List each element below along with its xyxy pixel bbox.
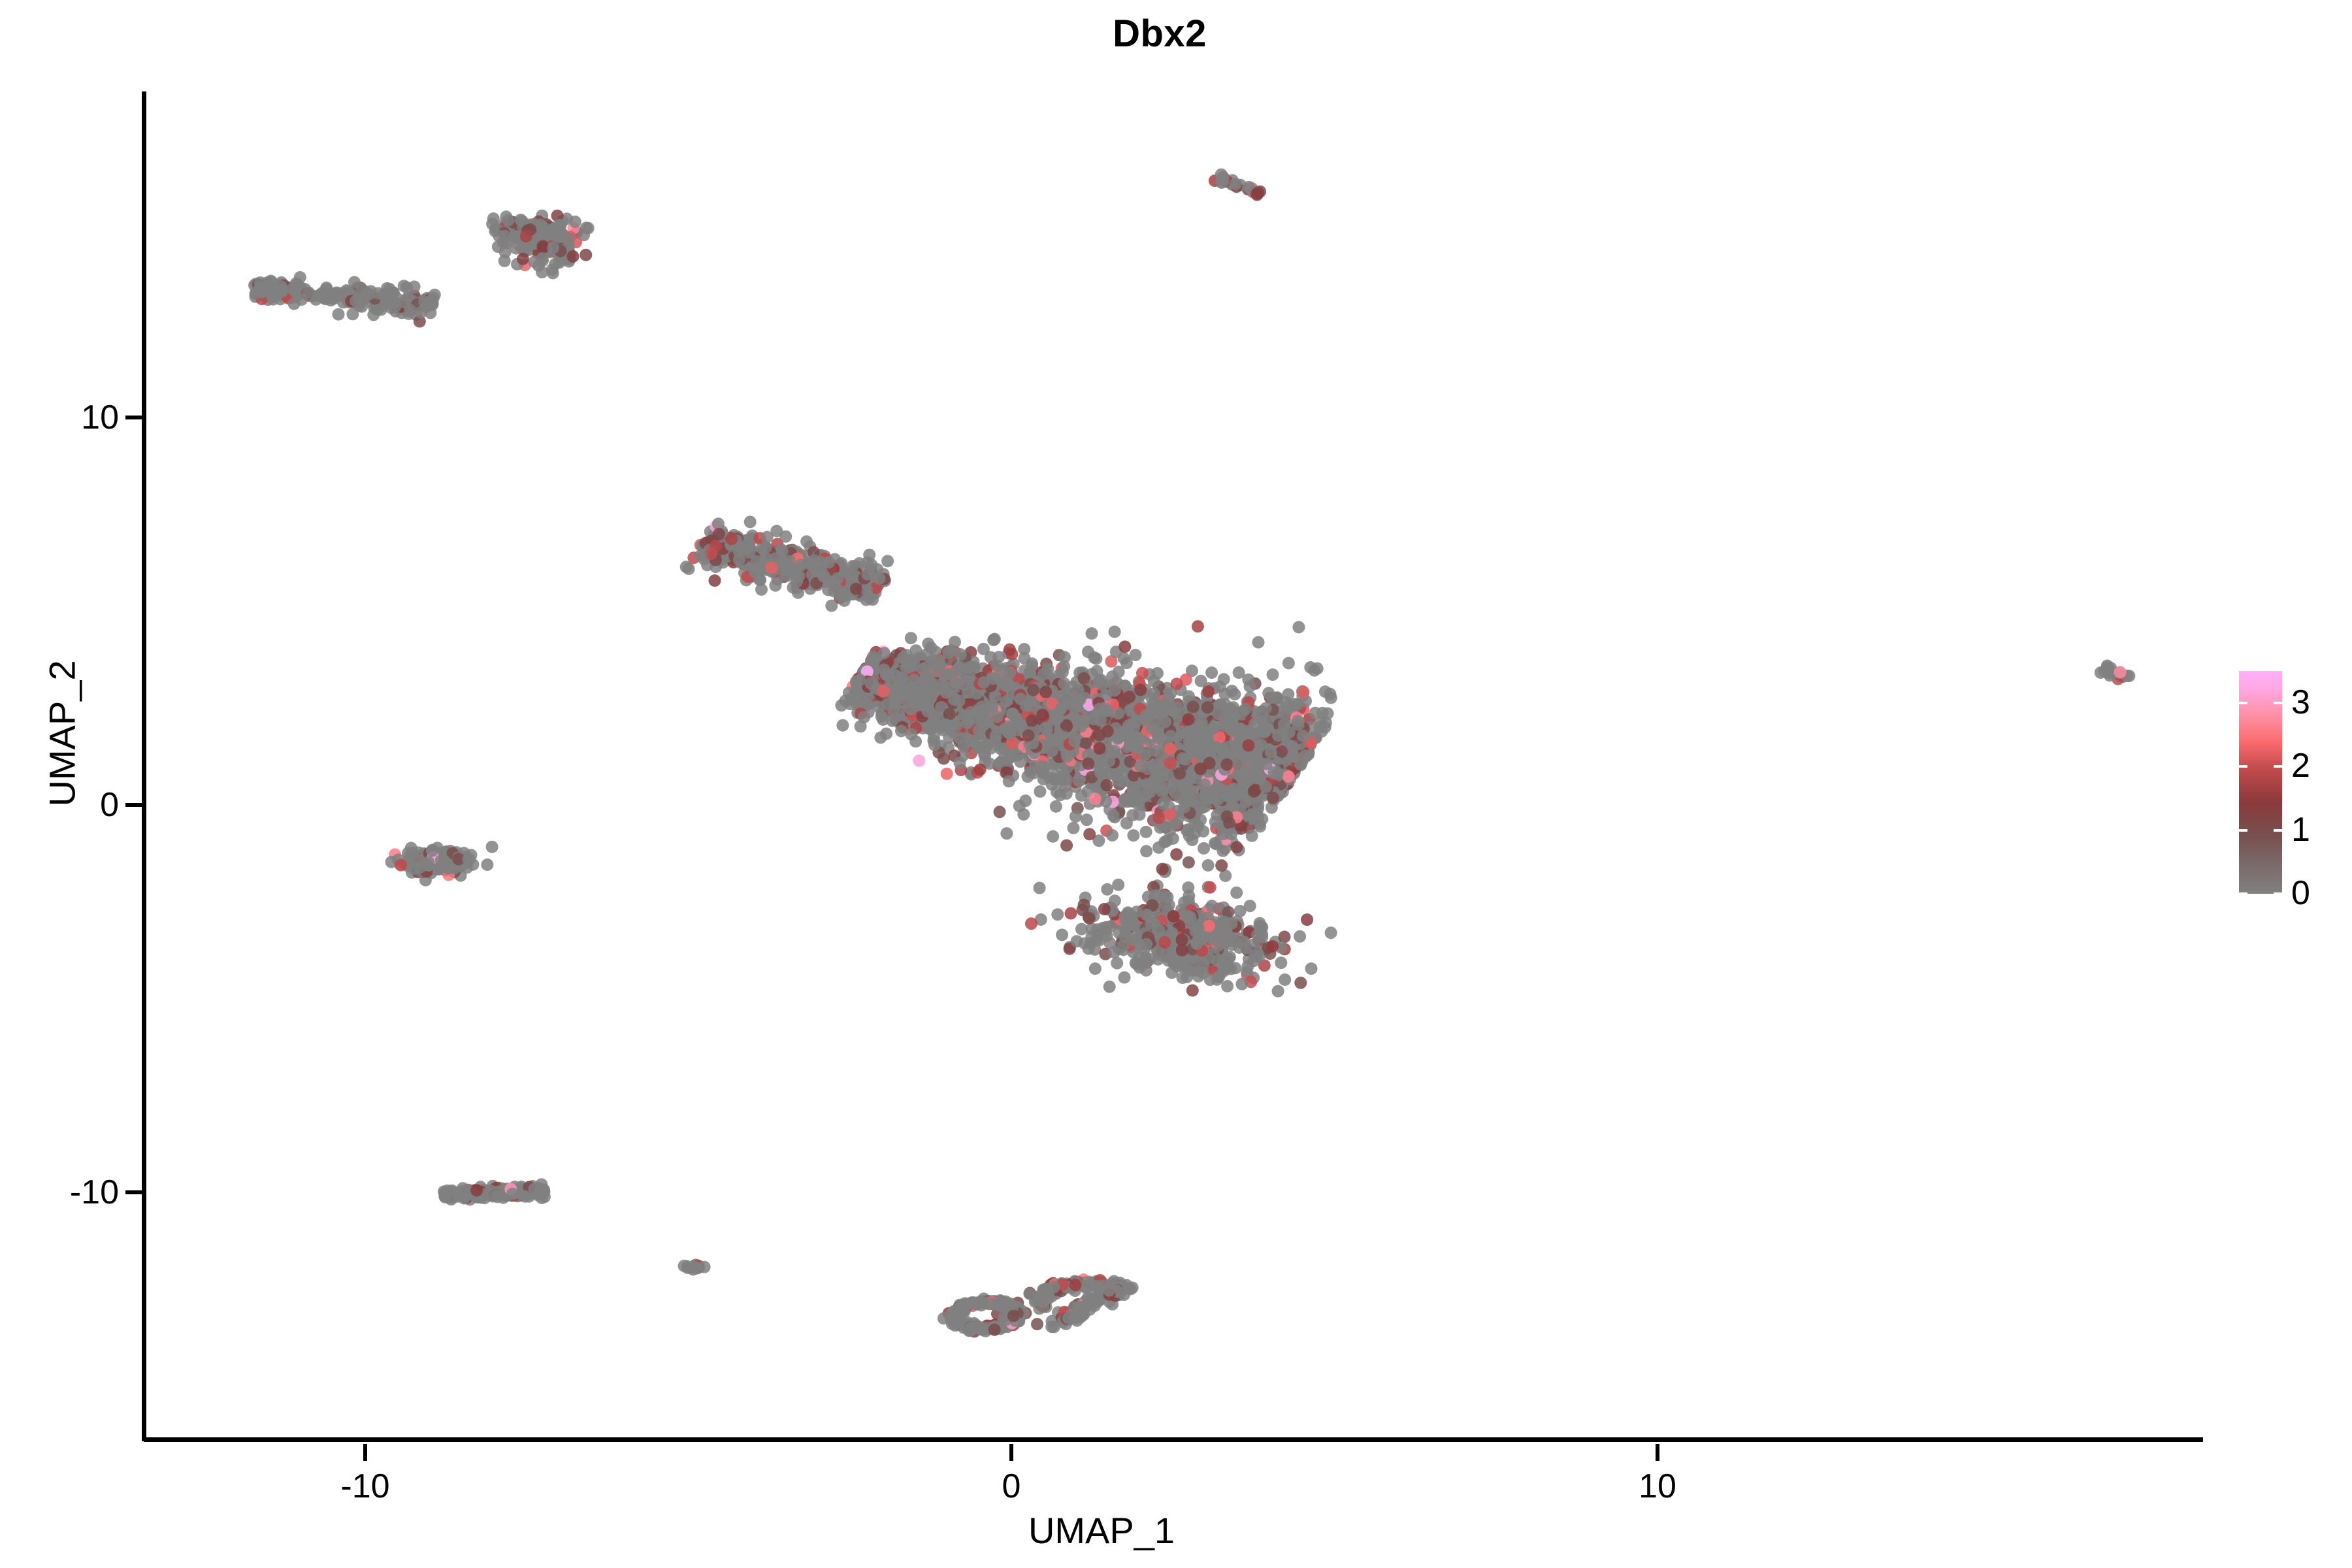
page-title: Dbx2 [0, 12, 2336, 56]
legend-label: 0 [2291, 876, 2310, 910]
legend-label: 3 [2291, 685, 2310, 719]
x-tick-mark [1009, 1444, 1013, 1461]
legend-tick [2239, 765, 2247, 768]
legend-tick [2274, 765, 2282, 768]
x-tick-label: -10 [300, 1467, 431, 1506]
legend-tick [2274, 829, 2282, 832]
x-tick-label: 10 [1592, 1467, 1723, 1506]
x-axis-line [144, 1437, 2203, 1442]
legend-tick [2239, 892, 2247, 895]
legend-tick [2239, 829, 2247, 832]
legend-tick [2239, 702, 2247, 704]
color-legend[interactable]: 3210 [2239, 671, 2350, 894]
y-axis-line [142, 91, 146, 1441]
legend-label: 2 [2291, 749, 2310, 783]
legend-label: 1 [2291, 813, 2310, 847]
x-tick-label: 0 [946, 1467, 1077, 1506]
y-tick-mark [125, 416, 142, 419]
umap-feature-plot: Dbx2 100-10 -10010 UMAP_2 UMAP_1 3210 [0, 0, 2352, 1568]
plot-panel [144, 91, 2203, 1439]
legend-tick [2274, 702, 2282, 704]
y-axis-title: UMAP_2 [41, 276, 84, 1191]
x-tick-mark [1656, 1444, 1659, 1461]
x-axis-title: UMAP_1 [72, 1509, 2131, 1552]
x-tick-mark [363, 1444, 367, 1461]
scatter-points-layer [144, 91, 2203, 1439]
legend-tick [2274, 892, 2282, 895]
y-tick-mark [125, 1190, 142, 1194]
legend-colorbar [2239, 671, 2282, 894]
y-tick-mark [125, 803, 142, 807]
